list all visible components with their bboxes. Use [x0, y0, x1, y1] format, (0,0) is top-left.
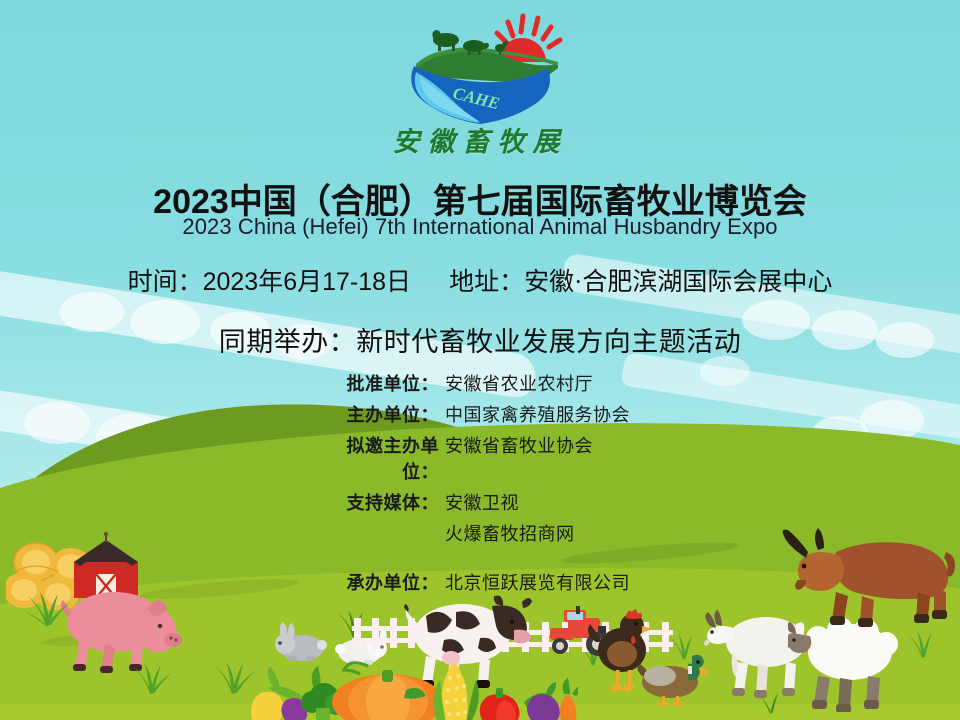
organizer-value: 安徽卫视 [439, 489, 519, 515]
organizer-row: 主办单位： 中国家禽养殖服务协会 [315, 401, 645, 427]
cahe-heart-logo-icon: CAHE [390, 6, 570, 126]
organizer-value: 安徽省农业农村厅 [439, 370, 593, 396]
organizer-row: 承办单位： 北京恒跃展览有限公司 [315, 569, 645, 595]
venue-label: 地址： [449, 269, 524, 296]
organizer-label: 承办单位： [315, 569, 439, 595]
organizer-value: 火爆畜牧招商网 [439, 520, 575, 546]
organizer-label: 支持媒体： [315, 489, 439, 515]
date-label: 时间： [128, 269, 203, 296]
concurrent-event-line: 同期举办：新时代畜牧业发展方向主题活动 [0, 320, 960, 359]
organizer-row: 支持媒体： 安徽卫视 [315, 489, 645, 515]
organizer-value: 安徽省畜牧业协会 [439, 432, 593, 458]
organizer-list: 批准单位： 安徽省农业农村厅 主办单位： 中国家禽养殖服务协会 拟邀主办单位： … [0, 370, 960, 600]
organizer-label: 主办单位： [315, 401, 439, 427]
date-venue-row: 时间：2023年6月17-18日地址：安徽·合肥滨湖国际会展中心 [0, 262, 960, 298]
organizer-label: 批准单位： [315, 370, 439, 396]
venue-value: 安徽·合肥滨湖国际会展中心 [524, 269, 832, 296]
organizer-label: 拟邀主办单位： [315, 432, 439, 484]
organizer-row: 拟邀主办单位： 安徽省畜牧业协会 [315, 432, 645, 484]
organizer-row-continued: 火爆畜牧招商网 [315, 520, 645, 546]
organizer-row: 批准单位： 安徽省农业农村厅 [315, 370, 645, 396]
date-value: 2023年6月17-18日 [203, 268, 411, 296]
organizer-value: 北京恒跃展览有限公司 [439, 569, 630, 595]
organizer-value: 中国家禽养殖服务协会 [439, 401, 630, 427]
logo-chinese-name: 安徽畜牧展 [393, 120, 568, 159]
logo-block: CAHE 安徽畜牧展 [0, 6, 960, 159]
poster-content: CAHE 安徽畜牧展 2023中国（合肥）第七届国际畜牧业博览会 2023 Ch… [0, 0, 960, 720]
page-title-en: 2023 China (Hefei) 7th International Ani… [0, 214, 960, 240]
expo-poster: CAHE 安徽畜牧展 2023中国（合肥）第七届国际畜牧业博览会 2023 Ch… [0, 0, 960, 720]
